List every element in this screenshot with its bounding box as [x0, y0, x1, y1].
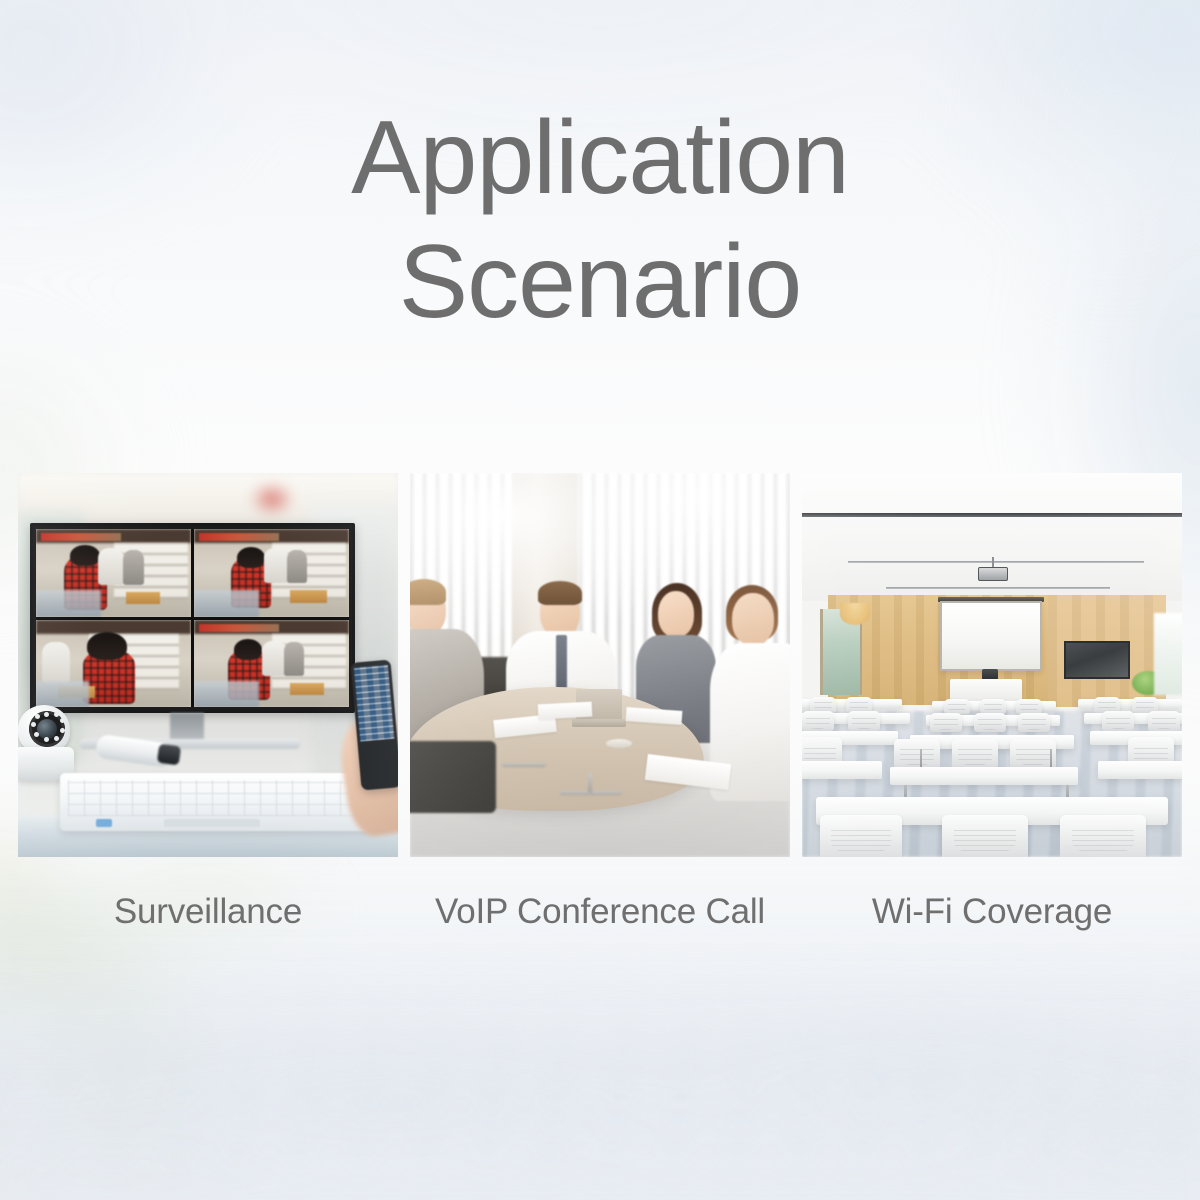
side-window	[1154, 613, 1182, 695]
caption-voip-conference-call: VoIP Conference Call	[410, 888, 790, 940]
cctv-feed-3	[36, 620, 191, 708]
cctv-monitor	[30, 523, 355, 713]
classroom-chair-front	[1060, 815, 1146, 857]
page-title-line-1: Application	[0, 96, 1200, 220]
computer-keyboard	[60, 773, 372, 831]
classroom-desk	[802, 761, 882, 779]
classroom-scene	[802, 473, 1182, 857]
ceiling-rail-thin	[886, 587, 1110, 589]
phone-screen	[354, 665, 394, 742]
page-title: Application Scenario	[0, 96, 1200, 344]
caption-surveillance: Surveillance	[18, 888, 398, 940]
classroom-chair-front	[820, 815, 902, 857]
scenario-image-wifi-coverage	[802, 473, 1182, 857]
classroom-ceiling	[802, 473, 1182, 601]
scenario-caption-row: Surveillance VoIP Conference Call Wi-Fi …	[18, 888, 1182, 940]
background-bottom-streaks	[0, 920, 1200, 1200]
bullet-camera	[90, 731, 182, 775]
classroom-chair	[952, 739, 998, 769]
ceiling-rail	[802, 513, 1182, 517]
classroom-chair	[1016, 699, 1042, 714]
camera-lens-ring	[29, 711, 65, 747]
wall-lamp	[840, 603, 870, 625]
office-chair	[410, 741, 496, 813]
classroom-desk	[1098, 761, 1182, 779]
lectern-podium	[950, 679, 1022, 701]
cctv-quadrant-grid	[36, 529, 349, 707]
classroom-chair	[894, 739, 940, 769]
classroom-chair	[1102, 711, 1134, 731]
classroom-desk	[890, 767, 1078, 785]
classroom-chair	[930, 713, 962, 732]
cctv-feed-1	[36, 529, 191, 617]
surveillance-scene	[18, 473, 398, 857]
conference-room-scene	[410, 473, 790, 857]
classroom-chair	[848, 711, 880, 731]
application-scenario-page: Application Scenario	[0, 0, 1200, 1200]
cctv-feed-4	[194, 620, 349, 708]
caption-wifi-coverage: Wi-Fi Coverage	[802, 888, 1182, 940]
scenario-image-row	[18, 473, 1182, 857]
classroom-chair	[802, 711, 834, 731]
page-title-line-2: Scenario	[0, 220, 1200, 344]
classroom-chair	[1148, 711, 1180, 731]
scenario-image-voip-conference-call	[410, 473, 790, 857]
classroom-chair	[980, 699, 1006, 714]
classroom-chair-front	[942, 815, 1028, 857]
conference-speaker-puck	[606, 739, 632, 748]
classroom-chair	[944, 699, 970, 714]
scenario-image-surveillance	[18, 473, 398, 857]
ceiling-projector	[978, 565, 1008, 581]
cctv-feed-2	[194, 529, 349, 617]
store-red-signage	[246, 479, 298, 519]
flat-screen-tv	[1064, 641, 1130, 679]
ceiling-rail-thin	[848, 561, 1144, 563]
document	[538, 702, 593, 720]
ip-dome-camera	[18, 705, 78, 781]
classroom-chair	[974, 713, 1006, 732]
projection-screen	[940, 601, 1042, 671]
classroom-chair	[1018, 713, 1050, 732]
